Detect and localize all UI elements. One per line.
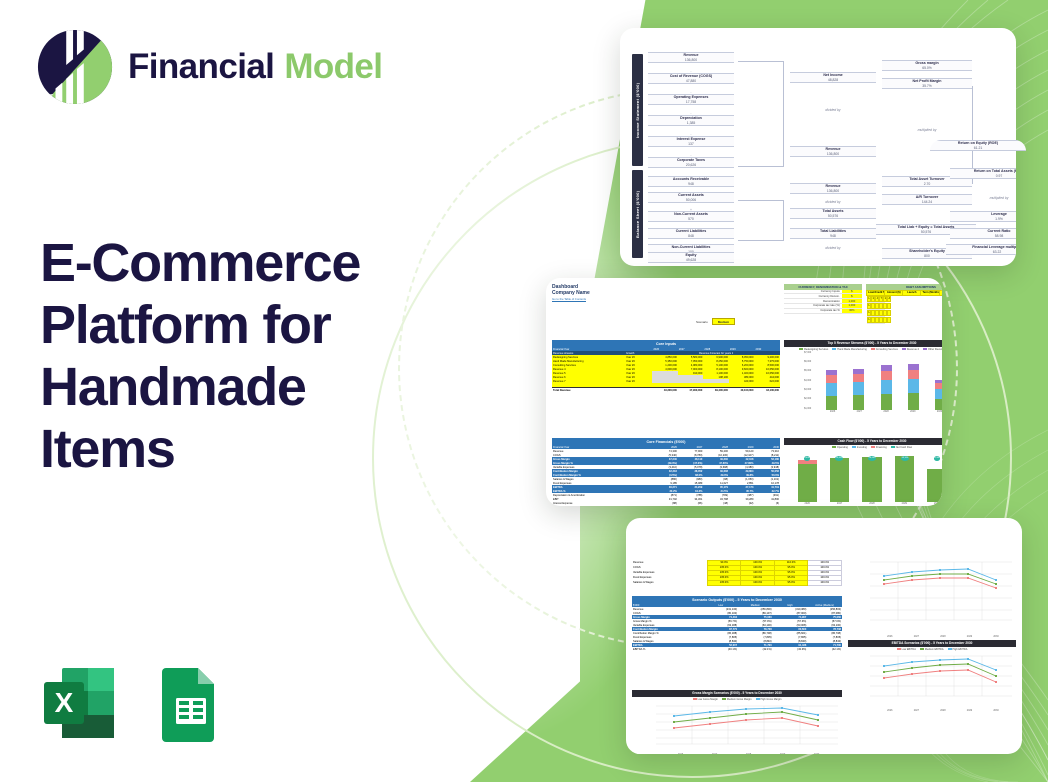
block-row: Corporate tax %30% xyxy=(784,309,862,314)
node-revenue-denominator: Revenue 136,800 xyxy=(790,146,876,157)
chart-plot-area xyxy=(812,352,942,410)
table-row: Loan 1 100,000 Jan-26 72 10.0% Auto by xyxy=(867,296,885,303)
core-inputs-section: Core Inputs Financial Year 2026 2027 202… xyxy=(552,340,780,392)
bar-2027 xyxy=(830,458,849,502)
operator-multiplied-by-1: multiplied by xyxy=(882,128,972,132)
node-total-liabilities: Total Liabilities 948 xyxy=(790,228,876,239)
bar-2028 xyxy=(881,365,892,410)
node-cogs: Cost of Revenue (COGS) 47,880 xyxy=(648,73,734,84)
scenario-outputs-section: Scenario Outputs ($'000) - 5 Years to De… xyxy=(632,596,842,651)
table-row: Salaries & Wages 105.0% 100.0% 95.0% 100… xyxy=(632,581,842,586)
legend-item: High EBITDA xyxy=(948,648,968,651)
core-financials-section: Core Financials ($'000) Financial Year 2… xyxy=(552,438,780,506)
legend-item: Medium Gross Margin xyxy=(722,698,752,701)
connector-8 xyxy=(972,183,973,184)
connector-4 xyxy=(738,200,784,201)
table-total-row: Total Revenue 43,200,000 47,900,000 39,4… xyxy=(552,388,780,393)
google-sheets-icon xyxy=(148,662,230,744)
node-financial-leverage-multiplier: Financial Leverage multiplier 63.22 xyxy=(946,244,1016,255)
node-current-ratio: Current Ratio 58.98 xyxy=(950,228,1016,239)
headline-line-2: Platform for xyxy=(40,294,460,356)
brand-word-model: Model xyxy=(284,47,382,87)
chart-x-axis: 2026 2027 2028 2029 2030 xyxy=(655,753,842,754)
legend-item: Consulting Services xyxy=(871,348,898,351)
table-header-row: Loan/Credit Name Amount ($) Launch Term … xyxy=(867,290,943,295)
table-row: EBITDA %(40.1%)(42.1%)(43.3%)(42.1%) xyxy=(632,647,842,651)
brand-wordmark: Financial Model xyxy=(128,47,382,87)
node-operating-expenses: Operating Expenses 17,758 xyxy=(648,94,734,105)
legend-item: Revenue 4 xyxy=(902,348,919,351)
bar-2026 xyxy=(798,460,817,502)
chart-y-axis: $7,000 $6,000 $5,000 $4,000 $3,000 $2,00… xyxy=(784,352,812,410)
node-current-assets: Current Assets 50,006 xyxy=(648,192,734,203)
node-total-assets: Total Assets 50,576 xyxy=(790,208,876,219)
node-revenue-turnover: Revenue 136,800 xyxy=(790,183,876,194)
circle-barchart-logo-icon xyxy=(36,26,114,108)
chart-top5-revenue-streams: Top 5 Revenue Streams ($'000) - 5 Years … xyxy=(784,340,942,413)
scenario-outputs-title: Scenario Outputs ($'000) - 5 Years to De… xyxy=(632,596,842,603)
band-balance-sheet: Balance Sheet ($'000) xyxy=(632,170,643,258)
table-row: Loan 3 xyxy=(867,310,885,317)
operator-divided-by-2: divided by xyxy=(790,200,876,204)
dashboard-toc-link[interactable]: Go to the Table of Contents xyxy=(552,297,590,301)
scenarios-card[interactable]: Revenue 90.0% 100.0% 110.0% 100.0% COGS … xyxy=(626,518,1022,754)
headline-line-1: E-Commerce xyxy=(40,232,460,294)
debt-assumptions-table: Loan/Credit Name Amount ($) Launch Term … xyxy=(866,290,942,324)
node-interest-expense: Interest Expense 137 xyxy=(648,136,734,147)
operator-divided-by-1: divided by xyxy=(790,108,876,112)
operator-divided-by-3: divided by xyxy=(790,246,876,250)
headline-line-4: Items xyxy=(40,418,460,480)
node-corporate-taxes: Corporate Taxes 20,626 xyxy=(648,157,734,168)
ebitda-line-chart xyxy=(848,652,1016,704)
node-gross-margin: Gross margin 65.0% xyxy=(882,60,972,71)
brand-word-financial: Financial xyxy=(128,47,274,87)
left-content-column: Financial Model E-Commerce Platform for … xyxy=(0,0,470,782)
chart-title: Top 5 Revenue Streams ($'000) - 5 Years … xyxy=(784,340,942,347)
node-accounts-receivable: Accounts Receivable 948 xyxy=(648,176,734,187)
connector-2 xyxy=(783,61,784,166)
dashboard-sheet: Dashboard Company Name Go to the Table o… xyxy=(546,278,942,506)
connector-5 xyxy=(783,200,784,240)
scenarios-sheet: Revenue 90.0% 100.0% 110.0% 100.0% COGS … xyxy=(626,518,1022,754)
scenario-value-dropdown[interactable]: Medium xyxy=(712,318,735,325)
legend-item: Medium EBITDA xyxy=(920,648,944,651)
bar-2028 xyxy=(862,457,881,502)
cashflow-data-labels: 9,000 16,300 26,400 33,100 8,300 xyxy=(784,456,942,461)
node-depreciation: Depreciation 1,385 xyxy=(648,115,734,126)
chart-cash-flow: Cash Flow ($'000) - 5 Years to December … xyxy=(784,438,942,505)
core-financials-table: Financial Year 2026 2027 2028 2029 2030 … xyxy=(552,445,780,506)
core-inputs-title: Core Inputs xyxy=(552,340,780,347)
scenario-outputs-body: Revenue(231,130)(256,800)(310,380)(256,8… xyxy=(632,607,842,651)
chart-scenarios-upper: 2026 2027 2028 2029 2030 xyxy=(848,554,1016,638)
node-return-on-equity: Return on Equity (ROE) 61.21 xyxy=(930,140,1026,151)
bar-2029 xyxy=(895,456,914,502)
microsoft-excel-icon: X xyxy=(38,662,120,744)
band-income-statement: Income Statement ($'000) xyxy=(632,54,643,166)
connector-6 xyxy=(738,240,784,241)
file-format-logos: X xyxy=(38,662,230,744)
core-financials-body: Revenue74,30077,90059,20059,12073,310COG… xyxy=(552,449,780,506)
operator-multiplied-by-2: multiplied by xyxy=(950,196,1016,200)
block-currency-denomination-tax: CURRENCY, DENOMINATION & TAX Currency In… xyxy=(784,284,862,314)
bar-2027 xyxy=(853,369,864,410)
chart-x-axis: 2026 2027 2028 2029 2030 xyxy=(870,635,1016,638)
chart-x-axis: 2026 2027 2028 2029 2030 xyxy=(784,502,942,505)
gross-margin-line-chart xyxy=(632,702,842,748)
dashboard-company-name: Company Name xyxy=(552,290,590,296)
bar-2030 xyxy=(927,469,942,502)
brand-lockup: Financial Model xyxy=(36,26,382,108)
node-net-income: Net Income 48,828 xyxy=(790,72,876,83)
legend-item: Low EBITDA xyxy=(897,648,916,651)
scenarios-upper-line-chart xyxy=(848,554,1016,630)
legend-item: Hand Made Manufacturing xyxy=(832,348,866,351)
block-debt-assumptions: DEBT ASSUMPTIONS Loan/Credit Name Amount… xyxy=(866,284,942,324)
node-current-liabilities: Current Liabilities 848 xyxy=(648,228,734,239)
legend-item: Financing xyxy=(871,446,887,449)
roe-node-wrapper: Return on Equity (ROE) 61.21 xyxy=(930,140,1026,162)
chart-title: EBITDA Scenarios ($'000) - 5 Years to De… xyxy=(848,640,1016,647)
table-row: Loan 2 xyxy=(867,303,885,310)
scenario-label: Scenario xyxy=(696,320,708,324)
table-row: Loan 4 xyxy=(867,317,885,324)
legend-item: High Gross Margin xyxy=(756,698,782,701)
table-row: Net Profit After Tax(8,773)(9,210)(9,271… xyxy=(552,505,780,506)
chart-title: Cash Flow ($'000) - 5 Years to December … xyxy=(784,438,942,445)
legend-item: Low Gross Margin xyxy=(693,698,718,701)
scenario-outputs-table: $'000 Low Medium High Active (Medium) Re… xyxy=(632,603,842,651)
bar-2030 xyxy=(935,380,942,410)
node-return-on-total-assets: Return on Total Assets (ROA) 0.97 xyxy=(950,168,1016,179)
legend-item: Operating xyxy=(832,446,848,449)
bar-2026 xyxy=(826,370,837,410)
legend-item: Net Cash Flow xyxy=(891,446,912,449)
stacked-bars xyxy=(812,352,942,410)
node-net-profit-margin: Net Profit Margin 35.7% xyxy=(882,78,972,89)
legend-item: Redesigning Services xyxy=(799,348,828,351)
node-equity: Equity 49,628 xyxy=(648,252,734,263)
node-non-current-assets: Non-Current Assets 570 xyxy=(648,211,734,222)
headline-line-3: Handmade xyxy=(40,356,460,418)
dashboard-card[interactable]: Dashboard Company Name Go to the Table o… xyxy=(546,278,942,506)
scenario-inputs-table: Revenue 90.0% 100.0% 110.0% 100.0% COGS … xyxy=(632,560,842,586)
chart-ebitda-scenarios: EBITDA Scenarios ($'000) - 5 Years to De… xyxy=(848,640,1016,712)
core-inputs-table: Financial Year 2026 2027 2028 2029 2030 … xyxy=(552,347,780,392)
svg-text:X: X xyxy=(55,687,74,718)
chart-x-axis: 2026 2027 2028 2029 2030 xyxy=(870,709,1016,712)
legend-item: Investing xyxy=(852,446,867,449)
scenario-selector[interactable]: Scenario Medium xyxy=(696,318,735,325)
chart-plot-area: 9,000 16,300 26,400 33,100 8,300 xyxy=(784,450,942,502)
node-leverage: Leverage 1.9% xyxy=(950,211,1016,222)
chart-title: Gross Margin Scenarios ($'000) - 5 Years… xyxy=(632,690,842,697)
chart-gross-margin-scenarios: Gross Margin Scenarios ($'000) - 5 Years… xyxy=(632,690,842,754)
chart-x-axis: 2026 2027 2028 2029 2030 xyxy=(812,410,942,413)
dashboard-header: Dashboard Company Name Go to the Table o… xyxy=(552,284,590,301)
legend-item: Other Revenue xyxy=(923,348,942,351)
promo-slide: Financial Model E-Commerce Platform for … xyxy=(0,0,1048,782)
core-financials-title: Core Financials ($'000) xyxy=(552,438,780,445)
bar-2029 xyxy=(908,364,919,410)
connector-1 xyxy=(738,61,784,62)
node-revenue: Revenue 136,800 xyxy=(648,52,734,63)
connector-3 xyxy=(738,166,784,167)
page-title: E-Commerce Platform for Handmade Items xyxy=(40,232,460,480)
